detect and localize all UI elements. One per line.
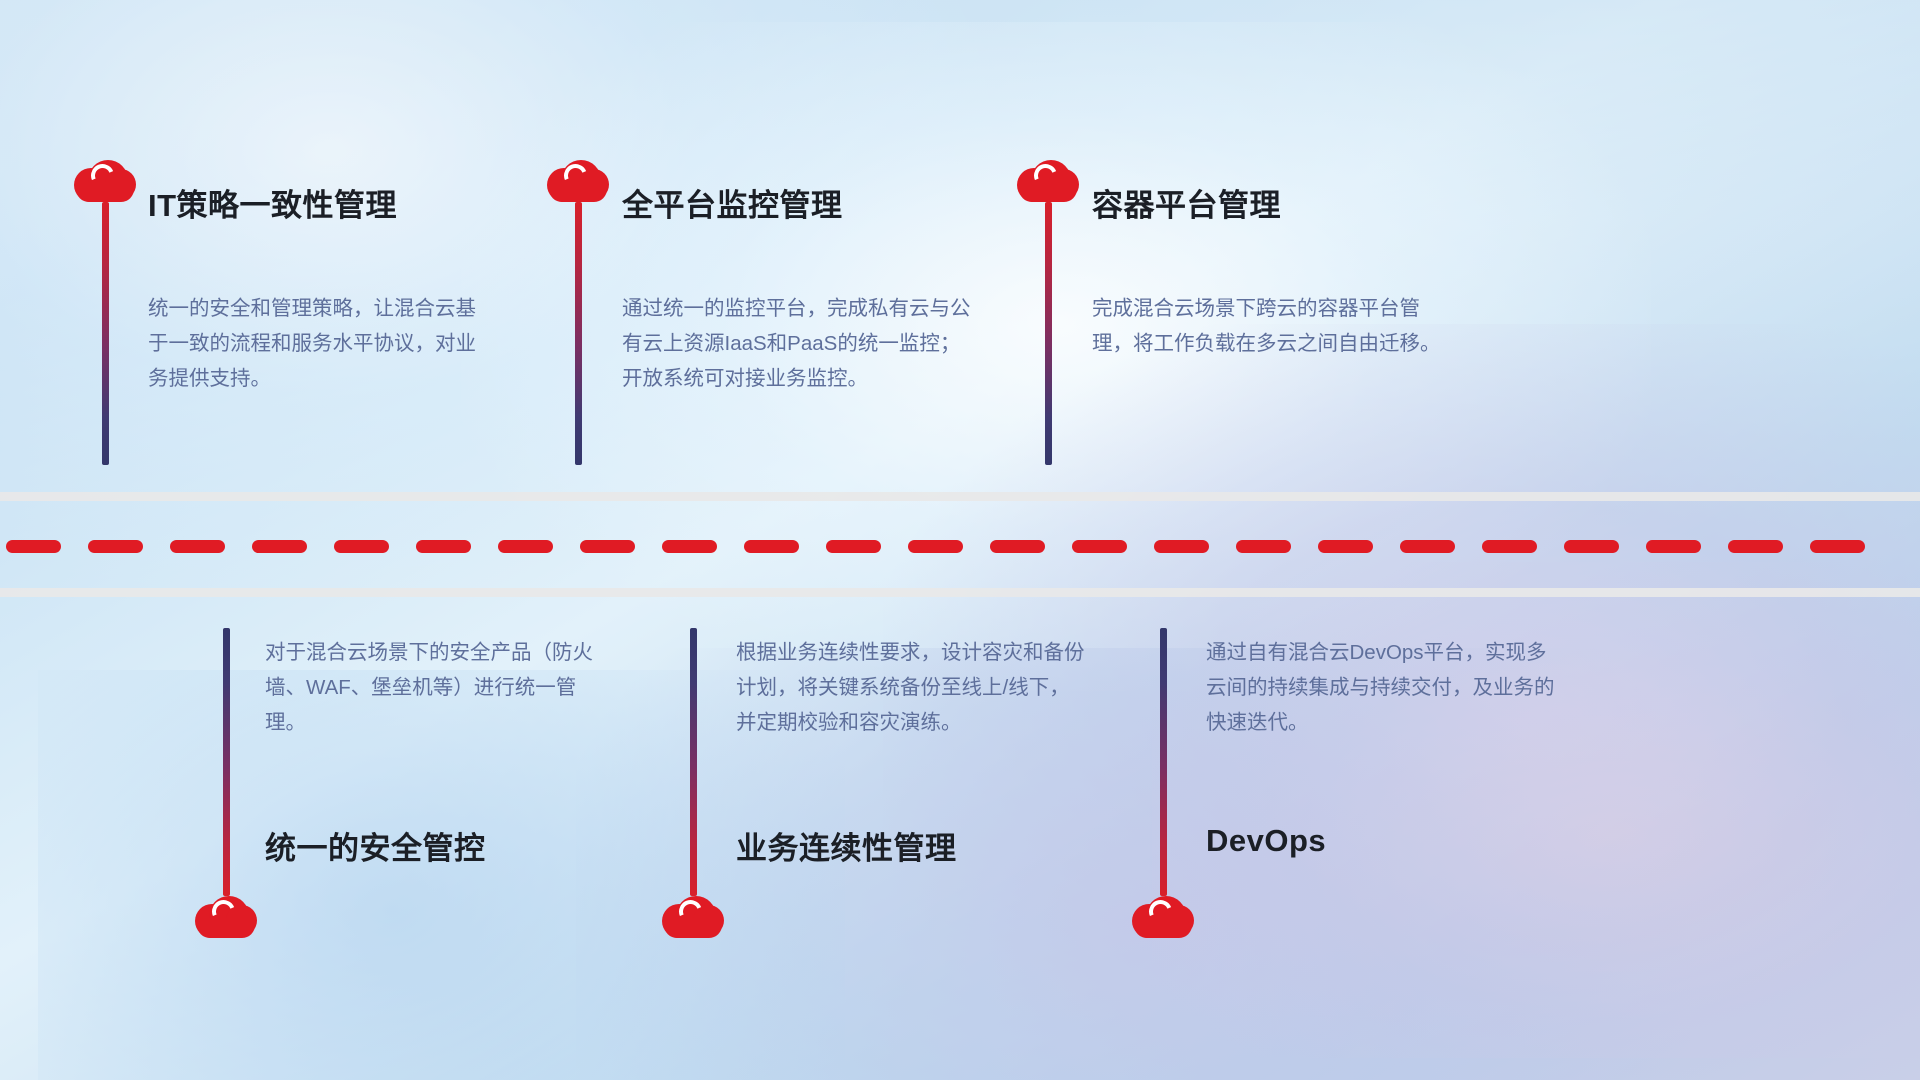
connector-stem xyxy=(690,628,697,896)
top-column-3-marker xyxy=(1018,160,1078,465)
divider-dash xyxy=(1646,540,1701,553)
divider-dash xyxy=(826,540,881,553)
cloud-icon xyxy=(1017,160,1079,202)
top-body-1: 统一的安全和管理策略，让混合云基于一致的流程和服务水平协议，对业务提供支持。 xyxy=(148,291,493,396)
divider-dash xyxy=(1400,540,1455,553)
top-heading-1: IT策略一致性管理 xyxy=(148,180,397,225)
cloud-icon xyxy=(662,896,724,938)
top-body-3: 完成混合云场景下跨云的容器平台管理，将工作负载在多云之间自由迁移。 xyxy=(1092,291,1442,361)
divider-dash xyxy=(1072,540,1127,553)
top-column-2-marker xyxy=(548,160,608,465)
top-heading-2: 全平台监控管理 xyxy=(622,180,843,225)
divider-dash xyxy=(416,540,471,553)
divider-dash xyxy=(580,540,635,553)
bottom-column-2-marker xyxy=(663,628,723,938)
divider-dash xyxy=(1318,540,1373,553)
cloud-icon xyxy=(195,896,257,938)
divider-dash xyxy=(170,540,225,553)
divider-dash xyxy=(498,540,553,553)
cloud-icon xyxy=(74,160,136,202)
bottom-body-3: 通过自有混合云DevOps平台，实现多云间的持续集成与持续交付，及业务的快速迭代… xyxy=(1206,635,1556,740)
divider-dash xyxy=(334,540,389,553)
bottom-column-1-marker xyxy=(196,628,256,938)
connector-stem xyxy=(102,202,109,465)
cloud-icon xyxy=(1132,896,1194,938)
divider-dash xyxy=(908,540,963,553)
divider-dash xyxy=(1728,540,1783,553)
top-heading-3: 容器平台管理 xyxy=(1092,180,1281,225)
divider-dash xyxy=(990,540,1045,553)
divider-dash xyxy=(1482,540,1537,553)
connector-stem xyxy=(1045,202,1052,465)
divider-dash xyxy=(1236,540,1291,553)
top-body-2: 通过统一的监控平台，完成私有云与公有云上资源IaaS和PaaS的统一监控；开放系… xyxy=(622,291,972,396)
connector-stem xyxy=(1160,628,1167,896)
connector-stem xyxy=(223,628,230,896)
divider-dash xyxy=(1154,540,1209,553)
divider-dash xyxy=(88,540,143,553)
divider-dash xyxy=(662,540,717,553)
dashed-divider xyxy=(0,539,1920,553)
divider-dash xyxy=(744,540,799,553)
divider-dash xyxy=(6,540,61,553)
divider-dash xyxy=(1564,540,1619,553)
bottom-body-1: 对于混合云场景下的安全产品（防火墙、WAF、堡垒机等）进行统一管理。 xyxy=(265,635,610,740)
divider-rail-top xyxy=(0,492,1920,501)
bottom-heading-3: DevOps xyxy=(1206,823,1326,859)
bottom-heading-2: 业务连续性管理 xyxy=(736,823,957,868)
divider-rail-bottom xyxy=(0,588,1920,597)
divider-dash xyxy=(252,540,307,553)
infographic-canvas: IT策略一致性管理 统一的安全和管理策略，让混合云基于一致的流程和服务水平协议，… xyxy=(0,0,1920,1080)
cloud-icon xyxy=(547,160,609,202)
bottom-heading-1: 统一的安全管控 xyxy=(265,823,486,868)
bottom-body-2: 根据业务连续性要求，设计容灾和备份计划，将关键系统备份至线上/线下，并定期校验和… xyxy=(736,635,1086,740)
bottom-column-3-marker xyxy=(1133,628,1193,938)
divider-dash xyxy=(1810,540,1865,553)
top-column-1-marker xyxy=(75,160,135,465)
connector-stem xyxy=(575,202,582,465)
